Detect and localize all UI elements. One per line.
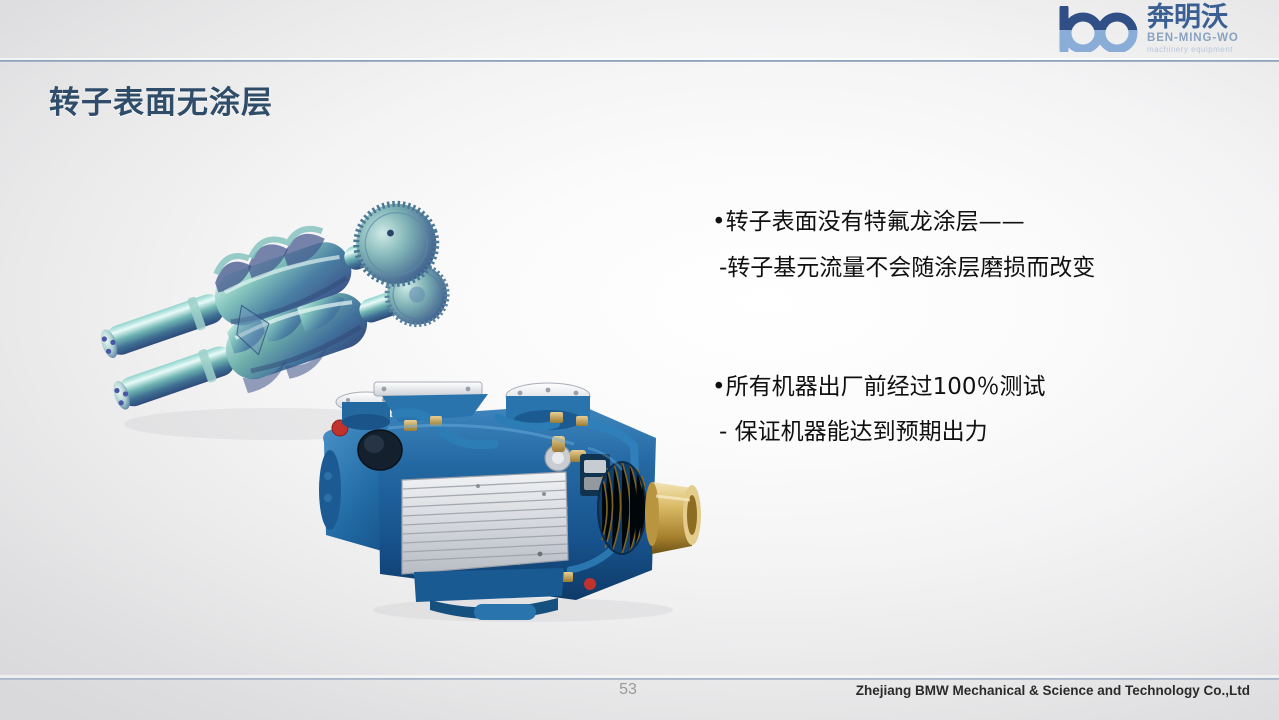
- bo-monogram-icon: [1059, 6, 1143, 52]
- screw-compressor-unit-image: [318, 358, 718, 630]
- logo-chinese-name: 奔明沃: [1147, 4, 1239, 31]
- footer-company-name: Zhejiang BMW Mechanical & Science and Te…: [856, 683, 1250, 698]
- bullet-group-1: •转子表面没有特氟龙涂层—— -转子基元流量不会随涂层磨损而改变: [712, 208, 1257, 283]
- bullet-2-line-2: - 保证机器能达到预期出力: [712, 418, 1257, 447]
- slide-title: 转子表面无涂层: [49, 77, 273, 122]
- bullet-group-2: •所有机器出厂前经过100％测试 - 保证机器能达到预期出力: [712, 373, 1257, 448]
- bullet-1-line-2: -转子基元流量不会随涂层磨损而改变: [712, 254, 1257, 283]
- footer-divider-rule: [0, 678, 1279, 680]
- logo-english-name: BEN-MING-WO: [1147, 32, 1239, 45]
- logo-tagline: machinery equipment: [1147, 46, 1239, 55]
- body-text-block: •转子表面没有特氟龙涂层—— -转子基元流量不会随涂层磨损而改变 •所有机器出厂…: [712, 208, 1257, 447]
- header-divider-rule: [0, 60, 1279, 62]
- bullet-2-line-1: •所有机器出厂前经过100％测试: [712, 373, 1257, 402]
- logo-wordmark: 奔明沃 BEN-MING-WO machinery equipment: [1147, 3, 1239, 55]
- company-logo: 奔明沃 BEN-MING-WO machinery equipment: [1059, 2, 1271, 56]
- slide-canvas: 奔明沃 BEN-MING-WO machinery equipment 转子表面…: [0, 0, 1279, 720]
- bullet-1-line-1: •转子表面没有特氟龙涂层——: [712, 208, 1257, 237]
